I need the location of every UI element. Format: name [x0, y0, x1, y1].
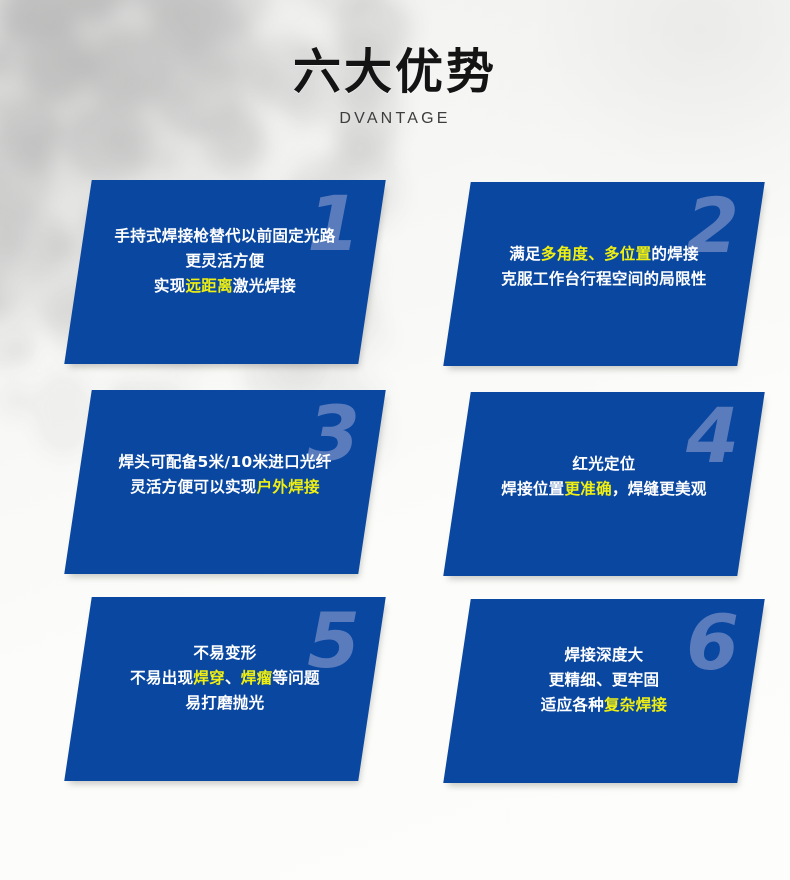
- card-text-line: 不易出现焊穿、焊瘤等问题: [78, 666, 372, 691]
- card-content: 2满足多角度、多位置的焊接克服工作台行程空间的局限性: [457, 182, 751, 366]
- plain-text: 满足: [509, 245, 541, 263]
- card-text-line: 满足多角度、多位置的焊接: [457, 242, 751, 267]
- highlighted-text: 焊穿: [193, 669, 225, 687]
- plain-text: 手持式焊接枪替代以前固定光路: [114, 227, 335, 245]
- card-text-line: 更精细、更牢固: [457, 668, 751, 693]
- advantages-infographic: 六大优势 DVANTAGE 1手持式焊接枪替代以前固定光路更灵活方便实现远距离激…: [0, 0, 790, 880]
- card-text-line: 红光定位: [457, 452, 751, 477]
- plain-text: 不易变形: [193, 644, 256, 662]
- plain-text: 不易出现: [130, 669, 193, 687]
- advantage-card-6: 6焊接深度大更精细、更牢固适应各种复杂焊接: [443, 599, 764, 783]
- card-text-line: 更灵活方便: [78, 249, 372, 274]
- plain-text: 焊头可配备5米/10米进口光纤: [118, 453, 331, 471]
- plain-text: 实现: [154, 277, 186, 295]
- plain-text: 焊接位置: [501, 480, 564, 498]
- page-subtitle: DVANTAGE: [0, 110, 790, 128]
- card-text-line: 焊接深度大: [457, 643, 751, 668]
- plain-text: 更灵活方便: [185, 252, 264, 270]
- plain-text: ，焊缝更美观: [612, 480, 707, 498]
- highlighted-text: 户外焊接: [257, 478, 320, 496]
- card-text-line: 不易变形: [78, 641, 372, 666]
- highlighted-text: 多角度、多位置: [541, 245, 652, 263]
- card-text-block: 焊头可配备5米/10米进口光纤灵活方便可以实现户外焊接: [78, 450, 372, 500]
- plain-text: 克服工作台行程空间的局限性: [501, 270, 706, 288]
- plain-text: 红光定位: [572, 455, 635, 473]
- card-text-line: 适应各种复杂焊接: [457, 693, 751, 718]
- highlighted-text: 复杂焊接: [604, 696, 667, 714]
- advantage-card-5: 5不易变形不易出现焊穿、焊瘤等问题易打磨抛光: [64, 597, 385, 781]
- plain-text: 灵活方便可以实现: [130, 478, 256, 496]
- card-text-block: 满足多角度、多位置的焊接克服工作台行程空间的局限性: [457, 242, 751, 292]
- card-text-block: 不易变形不易出现焊穿、焊瘤等问题易打磨抛光: [78, 641, 372, 716]
- card-text-line: 易打磨抛光: [78, 691, 372, 716]
- plain-text: 易打磨抛光: [185, 694, 264, 712]
- advantage-card-1: 1手持式焊接枪替代以前固定光路更灵活方便实现远距离激光焊接: [64, 180, 385, 364]
- advantage-card-4: 4红光定位焊接位置更准确，焊缝更美观: [443, 392, 764, 576]
- card-text-line: 灵活方便可以实现户外焊接: [78, 475, 372, 500]
- plain-text: 焊接深度大: [564, 646, 643, 664]
- header: 六大优势 DVANTAGE: [0, 44, 790, 128]
- card-text-line: 焊接位置更准确，焊缝更美观: [457, 477, 751, 502]
- card-text-block: 手持式焊接枪替代以前固定光路更灵活方便实现远距离激光焊接: [78, 224, 372, 299]
- card-content: 1手持式焊接枪替代以前固定光路更灵活方便实现远距离激光焊接: [78, 180, 372, 364]
- plain-text: 适应各种: [541, 696, 604, 714]
- highlighted-text: 焊瘤: [241, 669, 273, 687]
- card-text-block: 焊接深度大更精细、更牢固适应各种复杂焊接: [457, 643, 751, 718]
- card-text-line: 克服工作台行程空间的局限性: [457, 267, 751, 292]
- plain-text: 激光焊接: [233, 277, 296, 295]
- card-text-block: 红光定位焊接位置更准确，焊缝更美观: [457, 452, 751, 502]
- card-content: 4红光定位焊接位置更准确，焊缝更美观: [457, 392, 751, 576]
- card-content: 5不易变形不易出现焊穿、焊瘤等问题易打磨抛光: [78, 597, 372, 781]
- card-text-line: 实现远距离激光焊接: [78, 274, 372, 299]
- advantage-card-2: 2满足多角度、多位置的焊接克服工作台行程空间的局限性: [443, 182, 764, 366]
- plain-text: 更精细、更牢固: [549, 671, 660, 689]
- page-title: 六大优势: [0, 44, 790, 101]
- plain-text: 等问题: [272, 669, 319, 687]
- card-content: 6焊接深度大更精细、更牢固适应各种复杂焊接: [457, 599, 751, 783]
- highlighted-text: 远距离: [186, 277, 233, 295]
- plain-text: 、: [225, 669, 241, 687]
- card-text-line: 焊头可配备5米/10米进口光纤: [78, 450, 372, 475]
- advantage-card-3: 3焊头可配备5米/10米进口光纤灵活方便可以实现户外焊接: [64, 390, 385, 574]
- advantage-card-grid: 1手持式焊接枪替代以前固定光路更灵活方便实现远距离激光焊接2满足多角度、多位置的…: [0, 0, 790, 880]
- card-text-line: 手持式焊接枪替代以前固定光路: [78, 224, 372, 249]
- card-content: 3焊头可配备5米/10米进口光纤灵活方便可以实现户外焊接: [78, 390, 372, 574]
- plain-text: 的焊接: [651, 245, 698, 263]
- highlighted-text: 更准确: [564, 480, 611, 498]
